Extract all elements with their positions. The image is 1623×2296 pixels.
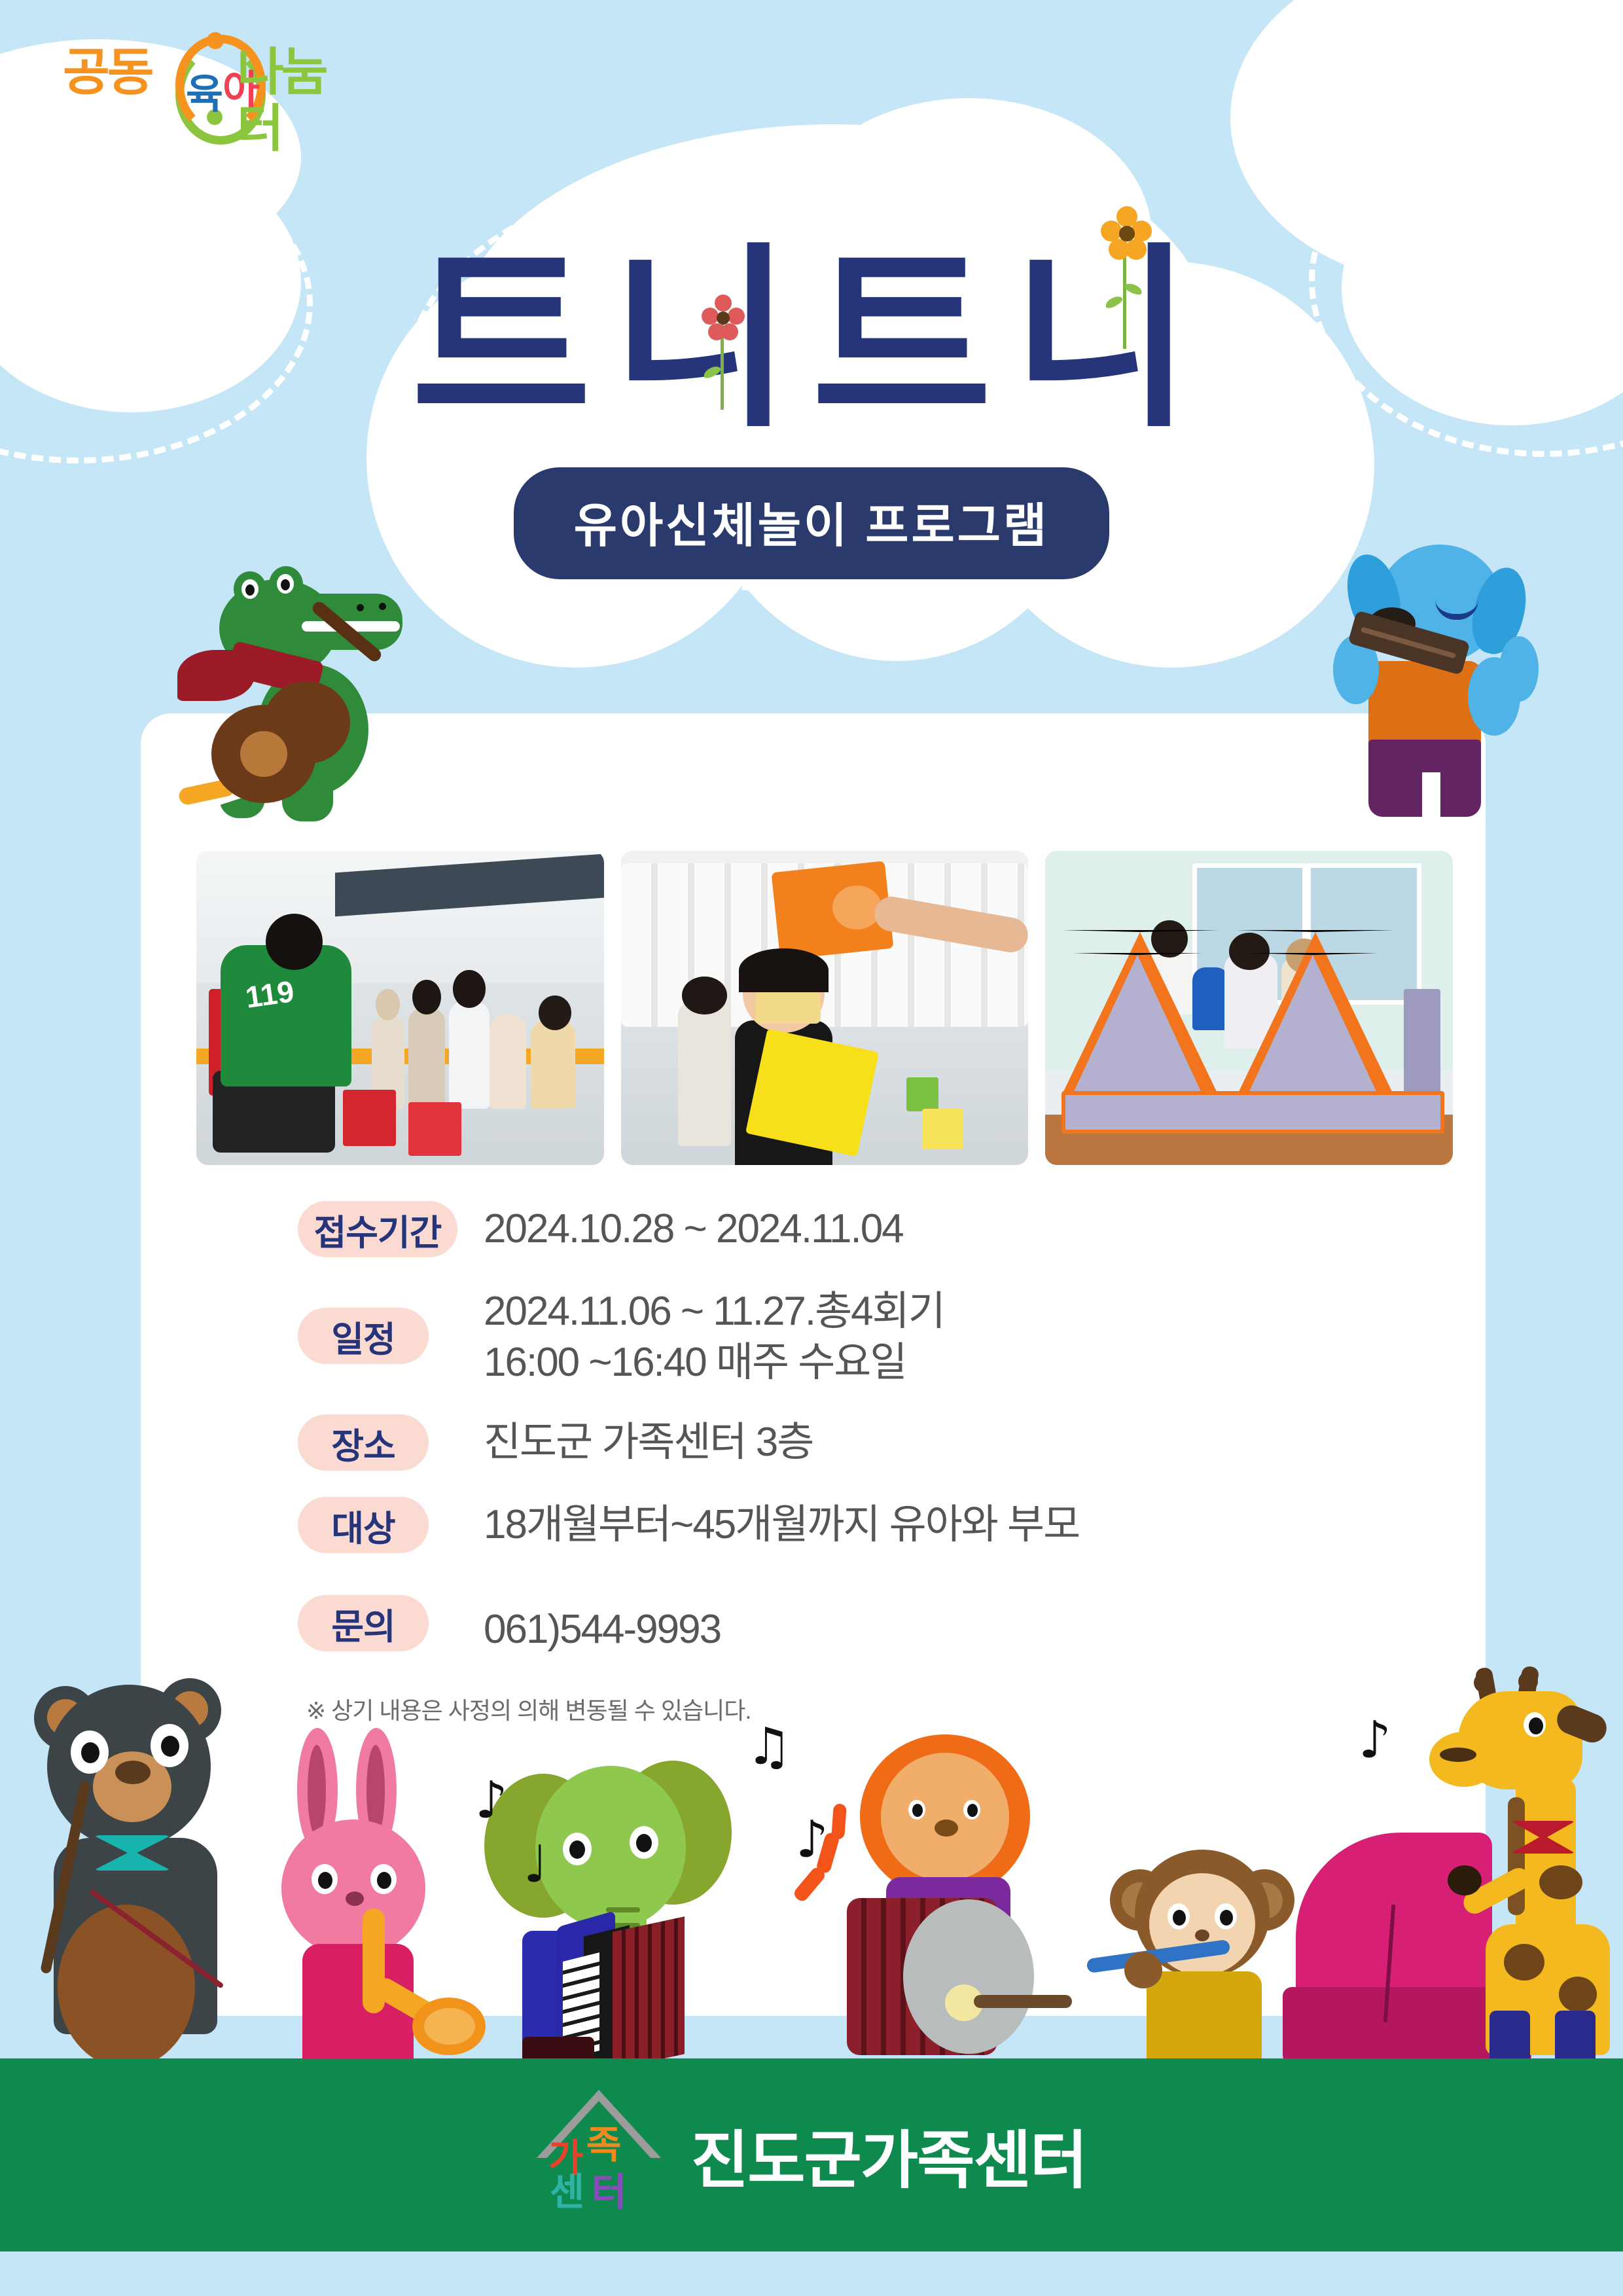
jersey-number: 119 xyxy=(243,973,296,1015)
brand-logo: 공동 육 아 나눔터 xyxy=(47,29,355,115)
family-center-logo-icon: 가 족 센 터 xyxy=(537,2090,661,2221)
crocodile-character xyxy=(141,553,402,821)
lion-character xyxy=(838,1734,1099,2062)
music-note-icon: ♪ xyxy=(796,1814,829,1865)
rabbit-character xyxy=(260,1728,496,2055)
info-row-target: 대상 18개월부터~45개월까지 유아와 부모 xyxy=(298,1497,1410,1553)
cello-icon xyxy=(58,1905,195,2068)
music-note-icon: ♫ xyxy=(746,1721,792,1772)
info-row-location: 장소 진도군 가족센터 3층 xyxy=(298,1414,1410,1471)
footer-bar: 가 족 센 터 진도군가족센터 xyxy=(0,2058,1623,2251)
dog-character xyxy=(1306,537,1548,818)
footer-org-name: 진도군가족센터 xyxy=(691,2109,1086,2200)
giraffe-character xyxy=(1400,1649,1616,2055)
elephant-character xyxy=(484,1734,759,2062)
animal-band: ♪ ♩ ♫ ♪ ♪ xyxy=(0,1623,1623,2068)
info-value-target: 18개월부터~45개월까지 유아와 부모 xyxy=(484,1497,1079,1551)
footer-logo-char-jok: 족 xyxy=(586,2126,621,2164)
bear-character xyxy=(20,1648,281,2054)
footer-logo-char-teo: 터 xyxy=(592,2174,626,2212)
info-label-location: 장소 xyxy=(298,1414,429,1471)
brand-ring-left-text: 육 xyxy=(186,61,223,120)
info-label-schedule: 일정 xyxy=(298,1308,429,1364)
info-list: 접수기간 2024.10.28 ~ 2024.11.04 일정 2024.11.… xyxy=(298,1201,1410,1681)
info-row-registration: 접수기간 2024.10.28 ~ 2024.11.04 xyxy=(298,1201,1410,1257)
photo-climbing-mats xyxy=(1045,851,1453,1165)
info-value-registration: 2024.10.28 ~ 2024.11.04 xyxy=(484,1201,903,1255)
poster-title: 트니트니 xyxy=(0,242,1623,439)
red-flower-icon xyxy=(700,295,746,412)
info-row-schedule: 일정 2024.11.06 ~ 11.27.총4회기 16:00 ~16:40 … xyxy=(298,1283,1410,1388)
info-value-schedule: 2024.11.06 ~ 11.27.총4회기 16:00 ~16:40 매주 … xyxy=(484,1283,944,1388)
music-note-icon: ♩ xyxy=(524,1839,548,1890)
brand-prefix-text: 공동 xyxy=(63,44,152,100)
music-note-icon: ♪ xyxy=(475,1775,508,1826)
brand-suffix-text: 나눔터 xyxy=(237,44,355,156)
info-value-location: 진도군 가족센터 3층 xyxy=(484,1414,813,1468)
orange-flower-icon xyxy=(1099,206,1152,347)
info-label-target: 대상 xyxy=(298,1497,429,1553)
music-note-icon: ♪ xyxy=(1359,1715,1391,1766)
info-label-registration: 접수기간 xyxy=(298,1201,457,1257)
photo-instructor-children: 119 xyxy=(196,851,604,1165)
poster-subtitle: 유아신체놀이 프로그램 xyxy=(514,467,1109,579)
photo-child-with-cube xyxy=(621,851,1029,1165)
title-block: 트니트니 유아신체놀이 프로그램 xyxy=(0,242,1623,579)
footer-logo-char-sen: 센 xyxy=(550,2174,584,2212)
poster-root: 공동 육 아 나눔터 트니트니 유아신체놀이 프로그램 xyxy=(0,0,1623,2296)
photo-strip: 119 xyxy=(196,851,1453,1165)
